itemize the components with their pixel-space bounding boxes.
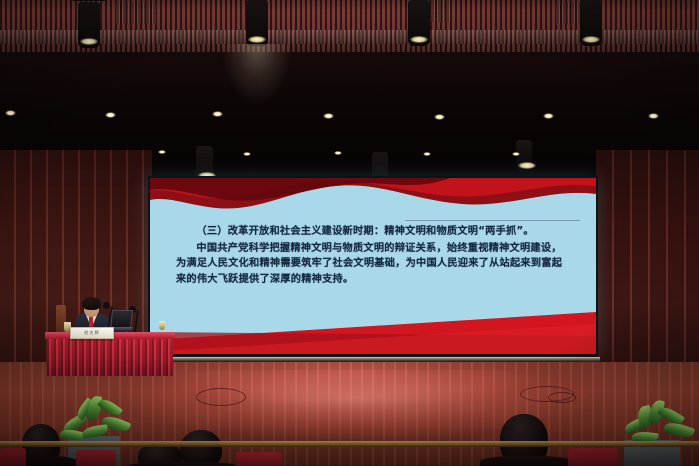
microphone-head (103, 302, 110, 309)
ceiling-downlight (334, 151, 342, 155)
slide-canvas: （三）改革开放和社会主义建设新时期：精神文明和物质文明“两手抓”。 中国共产党科… (150, 178, 596, 354)
drinking-cup (159, 321, 165, 330)
plant-leaf (97, 396, 123, 419)
stage-cable (196, 388, 246, 406)
ceiling-downlight (243, 152, 251, 156)
potted-plant-right (624, 400, 699, 466)
table-skirt (47, 339, 173, 376)
ceiling-downlight (105, 112, 116, 118)
stage-light-fixture (580, 0, 602, 46)
speaker-nameplate-label: 姓名牌 (71, 328, 113, 338)
ceiling-vent-grille (116, 2, 156, 24)
fixture-arm (72, 0, 106, 1)
speaker-lanyard (89, 316, 93, 327)
audience-seat (76, 450, 116, 466)
ceiling-downlight (512, 152, 520, 156)
led-presentation-screen: （三）改革开放和社会主义建设新时期：精神文明和物质文明“两手抓”。 中国共产党科… (148, 176, 598, 356)
speaker-hair (82, 297, 101, 310)
audience-head (180, 430, 222, 466)
ceiling-downlight (434, 114, 445, 120)
ceiling-downlight (323, 113, 334, 119)
audience-seat (0, 448, 26, 466)
stage-light-fixture (78, 2, 100, 48)
ceiling-downlight (5, 110, 16, 116)
slide-body-paragraph: 中国共产党科学把握精神文明与物质文明的辩证关系，始终重视精神文明建设，为满足人民… (176, 241, 570, 287)
stage-cable (548, 392, 576, 403)
slide-ribbon-graphic-bottom (150, 306, 596, 354)
stage-light-fixture (516, 140, 532, 172)
ceiling-downlight (158, 150, 166, 154)
stage-light-fixture (246, 0, 268, 46)
auditorium-scene: （三）改革开放和社会主义建设新时期：精神文明和物质文明“两手抓”。 中国共产党科… (0, 0, 699, 466)
audience-shoulders (128, 462, 238, 466)
speaker-nameplate: 姓名牌 (70, 327, 114, 339)
audience-seat (568, 448, 618, 466)
ceiling-downlight (648, 113, 659, 119)
audience-shoulders (480, 456, 572, 466)
stage-light-fixture (408, 0, 430, 46)
ceiling-downlight (423, 152, 431, 156)
ceiling-downlight (212, 111, 223, 117)
stage-front-edge (0, 441, 699, 447)
slide-heading: （三）改革开放和社会主义建设新时期：精神文明和物质文明“两手抓”。 (176, 224, 570, 239)
audience-seat (236, 452, 282, 466)
ceiling-downlight (543, 113, 554, 119)
